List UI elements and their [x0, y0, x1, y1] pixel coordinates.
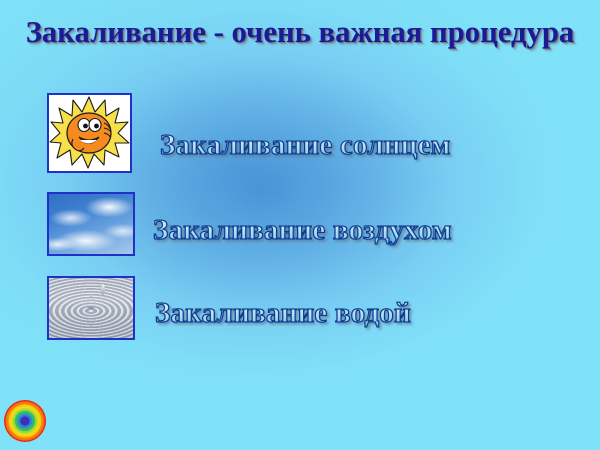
menu-label-sun[interactable]: Закаливание солнцем	[160, 129, 451, 162]
water-image	[49, 278, 133, 338]
menu-label-water[interactable]: Закаливание водой	[155, 297, 411, 330]
menu-label-air[interactable]: Закаливание воздухом	[153, 214, 452, 247]
image-frame-water[interactable]	[47, 276, 135, 340]
water-droplet-icon	[101, 284, 105, 295]
rainbow-bullseye-icon[interactable]	[4, 400, 46, 442]
presentation-slide: Закаливание - очень важная процедура Зак…	[0, 0, 600, 450]
sky-image	[49, 194, 133, 254]
image-frame-sun[interactable]	[47, 93, 132, 173]
image-frame-sky[interactable]	[47, 192, 135, 256]
sun-image	[49, 95, 130, 171]
slide-title: Закаливание - очень важная процедура	[3, 14, 597, 50]
smiling-sun-icon	[49, 95, 130, 171]
